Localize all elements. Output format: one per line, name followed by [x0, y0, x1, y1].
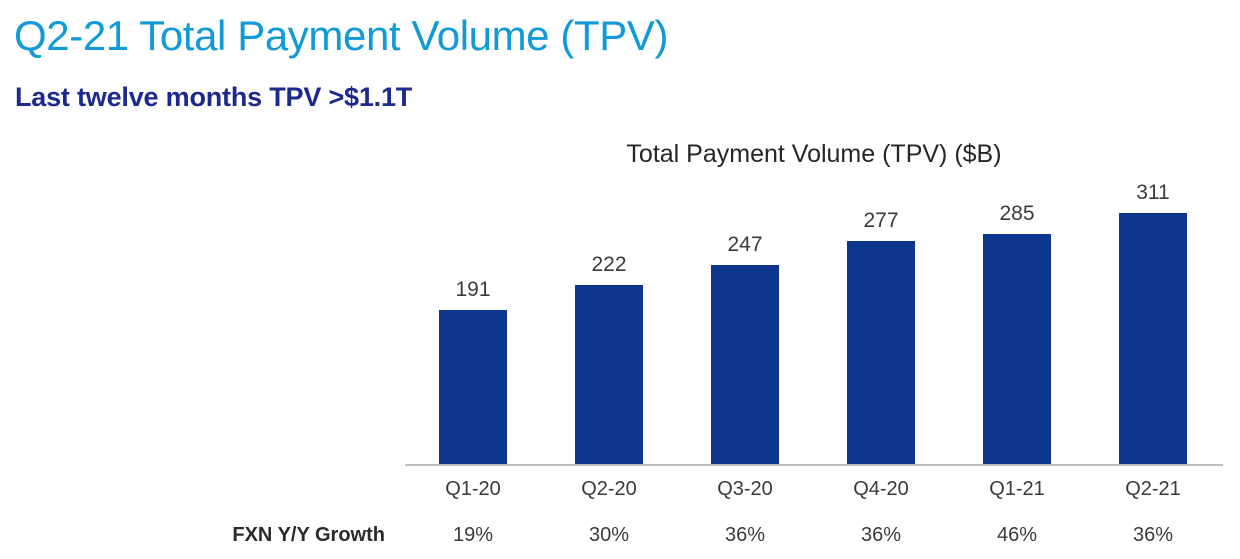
x-axis-label: Q2-20 [541, 476, 677, 502]
chart-bar[interactable] [439, 310, 507, 464]
chart-bar[interactable] [983, 234, 1051, 464]
bar-value-label: 191 [405, 278, 541, 302]
growth-value: 36% [1085, 522, 1221, 548]
chart-bar[interactable] [847, 241, 915, 464]
chart-bar[interactable] [575, 285, 643, 464]
bar-slot: 191 [405, 190, 541, 464]
growth-row-label: FXN Y/Y Growth [170, 522, 385, 548]
x-axis-label: Q1-20 [405, 476, 541, 502]
x-axis-label: Q1-21 [949, 476, 1085, 502]
x-axis-label: Q3-20 [677, 476, 813, 502]
x-axis-line [405, 464, 1223, 466]
bar-value-label: 285 [949, 202, 1085, 226]
bar-value-label: 247 [677, 233, 813, 257]
chart-bar[interactable] [711, 265, 779, 464]
growth-value: 36% [677, 522, 813, 548]
growth-value: 46% [949, 522, 1085, 548]
bar-slot: 277 [813, 190, 949, 464]
tpv-bar-chart: Total Payment Volume (TPV) ($B) 19122224… [0, 0, 1240, 559]
growth-value: 19% [405, 522, 541, 548]
growth-value: 36% [813, 522, 949, 548]
chart-plot-area: 191222247277285311 [405, 190, 1223, 464]
bar-slot: 247 [677, 190, 813, 464]
bar-slot: 222 [541, 190, 677, 464]
chart-title: Total Payment Volume (TPV) ($B) [405, 138, 1223, 170]
bar-value-label: 222 [541, 253, 677, 277]
chart-bar[interactable] [1119, 213, 1187, 464]
bar-value-label: 277 [813, 209, 949, 233]
growth-value: 30% [541, 522, 677, 548]
bar-slot: 311 [1085, 190, 1221, 464]
x-axis-label: Q2-21 [1085, 476, 1221, 502]
x-axis-label: Q4-20 [813, 476, 949, 502]
bar-slot: 285 [949, 190, 1085, 464]
bar-value-label: 311 [1085, 181, 1221, 205]
